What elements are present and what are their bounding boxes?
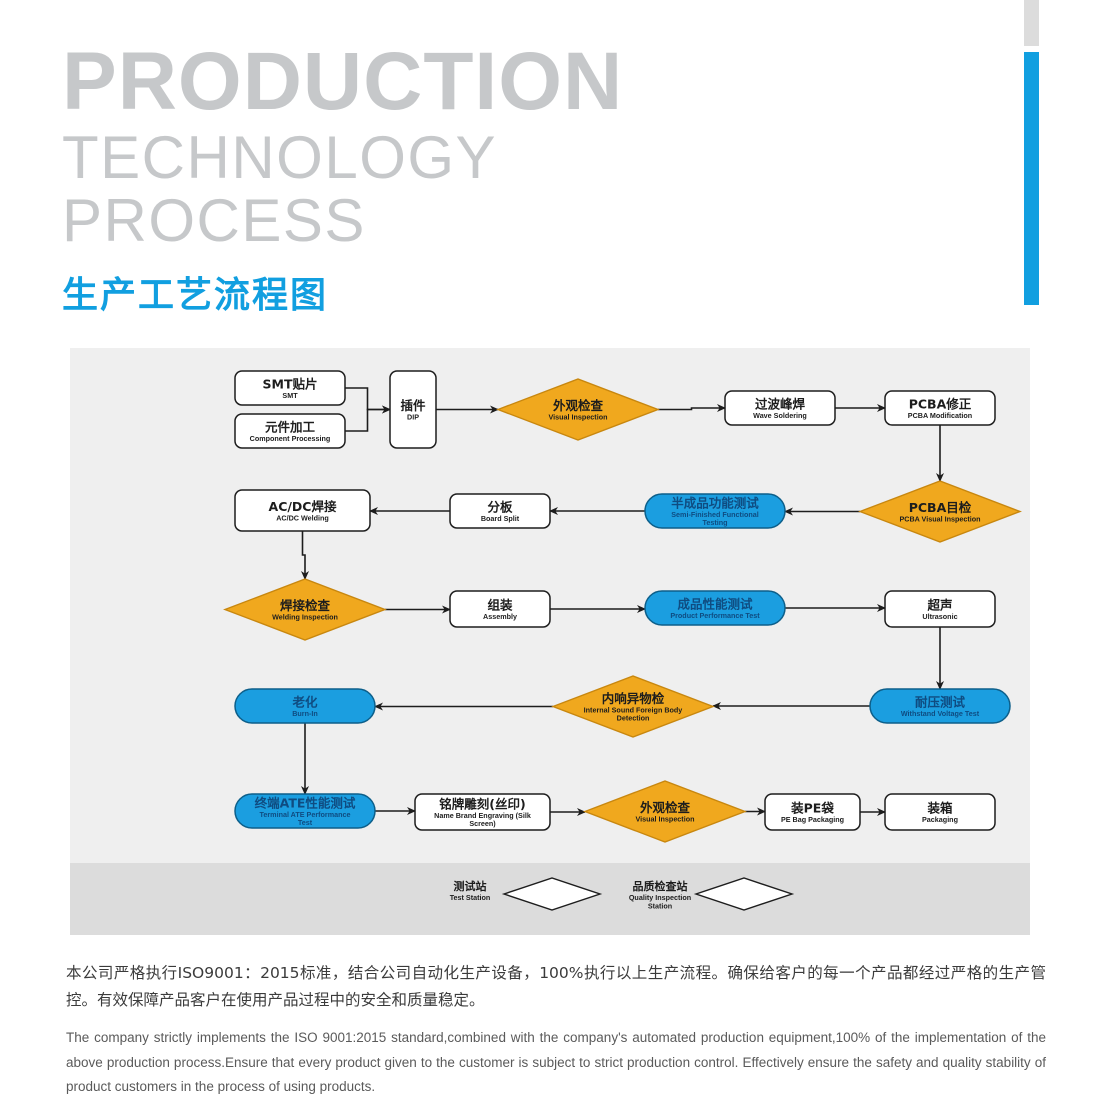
connector-visual1-to-wave [658, 408, 725, 410]
node-label-cn: 元件加工 [265, 419, 316, 434]
flow-node-semifunc: 半成品功能测试Semi-Finished FunctionalTesting [645, 494, 785, 528]
flow-node-boardsplit: 分板Board Split [450, 494, 550, 528]
flow-node-engrave: 铭牌雕刻(丝印)Name Brand Engraving (SilkScreen… [415, 794, 550, 830]
node-label-en: Withstand Voltage Test [901, 709, 980, 718]
flow-node-withstand: 耐压测试Withstand Voltage Test [870, 689, 1010, 723]
title-line-production: PRODUCTION [62, 42, 623, 122]
legend-label-en: Test Station [450, 893, 491, 902]
description-chinese: 本公司严格执行ISO9001：2015标准，结合公司自动化生产设备，100%执行… [66, 960, 1046, 1014]
node-label-cn: 分板 [487, 499, 513, 514]
decorative-blue-accent-bar [1024, 52, 1039, 305]
node-label-en: PE Bag Packaging [781, 815, 844, 824]
node-label-cn: 插件 [400, 398, 426, 413]
flow-node-dip: 插件DIP [390, 371, 436, 448]
node-label-cn: 老化 [291, 694, 318, 709]
legend-items: 测试站Test Station品质检查站Quality InspectionSt… [450, 878, 792, 910]
node-label-cn: PCBA修正 [909, 396, 972, 411]
connector-smt-to-dip [345, 388, 390, 410]
flow-node-component: 元件加工Component Processing [235, 414, 345, 448]
node-label-cn: 焊接检查 [280, 598, 331, 613]
title-line-process: PROCESS [62, 189, 623, 252]
node-label-en: Screen) [469, 819, 496, 828]
legend-swatch-diamond [504, 878, 600, 910]
legend-label-cn: 品质检查站 [633, 879, 688, 893]
description-block: 本公司严格执行ISO9001：2015标准，结合公司自动化生产设备，100%执行… [66, 960, 1046, 1100]
flow-connectors [303, 388, 941, 812]
title-line-technology: TECHNOLOGY [62, 126, 623, 189]
node-label-en: Assembly [483, 612, 517, 621]
node-label-en: Wave Soldering [753, 411, 807, 420]
node-label-cn: 铭牌雕刻(丝印) [439, 796, 525, 811]
node-label-en: AC/DC Welding [276, 513, 329, 522]
node-label-en: Welding Inspection [272, 612, 338, 621]
flow-node-welding: 焊接检查Welding Inspection [225, 579, 385, 640]
flow-node-smt: SMT贴片SMT [235, 371, 345, 405]
node-label-cn: 装箱 [926, 800, 953, 815]
flow-node-visual1: 外观检查Visual Inspection [498, 379, 658, 440]
flow-node-perf: 成品性能测试Product Performance Test [645, 591, 785, 625]
node-label-cn: 外观检查 [639, 800, 691, 815]
node-label-cn: AC/DC焊接 [269, 499, 337, 514]
node-label-en: Detection [617, 714, 650, 723]
flow-nodes: SMT贴片SMT元件加工Component Processing插件DIP外观检… [225, 371, 1020, 842]
node-label-cn: 内响异物检 [602, 691, 665, 706]
legend-label-en: Station [648, 901, 672, 910]
node-label-en: DIP [407, 412, 419, 421]
node-label-en: Visual Inspection [549, 412, 608, 421]
node-label-en: Testing [702, 518, 727, 527]
node-label-en: PCBA Modification [908, 411, 972, 420]
legend-swatch-diamond [696, 878, 792, 910]
page-title-block: PRODUCTION TECHNOLOGY PROCESS 生产工艺流程图 [62, 42, 623, 318]
flow-node-visual2: 外观检查Visual Inspection [585, 781, 745, 842]
flow-node-ultrasonic: 超声Ultrasonic [885, 591, 995, 627]
flow-node-pebag: 装PE袋PE Bag Packaging [765, 794, 860, 830]
node-label-cn: 组装 [487, 597, 513, 612]
node-label-cn: 终端ATE性能测试 [255, 795, 356, 810]
node-label-en: Packaging [922, 815, 958, 824]
node-label-cn: SMT贴片 [263, 376, 318, 391]
flowchart-diagram: SMT贴片SMT元件加工Component Processing插件DIP外观检… [70, 348, 1030, 935]
description-english: The company strictly implements the ISO … [66, 1026, 1046, 1100]
node-label-cn: 半成品功能测试 [671, 495, 759, 510]
node-label-cn: 过波峰焊 [755, 396, 806, 411]
node-label-en: SMT [282, 391, 298, 400]
legend-inspection-station: 品质检查站Quality InspectionStation [629, 878, 792, 910]
node-label-en: PCBA Visual Inspection [899, 514, 980, 523]
flow-node-wave: 过波峰焊Wave Soldering [725, 391, 835, 425]
node-label-en: Component Processing [250, 434, 331, 443]
flow-node-ate: 终端ATE性能测试Terminal ATE PerformanceTest [235, 794, 375, 828]
decorative-grey-bar [1024, 0, 1039, 46]
node-label-en: Ultrasonic [922, 612, 957, 621]
subtitle-chinese: 生产工艺流程图 [62, 266, 623, 318]
node-label-en: Product Performance Test [670, 611, 760, 620]
legend-test-station: 测试站Test Station [450, 878, 600, 910]
node-label-cn: 耐压测试 [915, 694, 966, 709]
legend-label-cn: 测试站 [454, 879, 487, 893]
node-label-en: Board Split [481, 514, 520, 523]
connector-component-to-dip [345, 410, 390, 432]
node-label-cn: 超声 [926, 597, 952, 612]
flow-node-pcbamod: PCBA修正PCBA Modification [885, 391, 995, 425]
flow-node-pcbavi: PCBA目检PCBA Visual Inspection [860, 481, 1020, 542]
flow-node-internal: 内响异物检Internal Sound Foreign BodyDetectio… [553, 676, 713, 737]
flow-node-assembly: 组装Assembly [450, 591, 550, 627]
flow-node-burnin: 老化Burn-In [235, 689, 375, 723]
flow-node-carton: 装箱Packaging [885, 794, 995, 830]
node-label-en: Burn-In [292, 709, 318, 718]
flow-node-acdc: AC/DC焊接AC/DC Welding [235, 490, 370, 531]
connector-acdc-to-welding [303, 531, 306, 579]
node-label-en: Visual Inspection [636, 814, 695, 823]
node-label-cn: 成品性能测试 [677, 596, 753, 611]
node-label-cn: PCBA目检 [909, 500, 972, 515]
node-label-cn: 外观检查 [552, 398, 604, 413]
node-label-cn: 装PE袋 [790, 800, 834, 815]
node-label-en: Test [298, 818, 313, 827]
